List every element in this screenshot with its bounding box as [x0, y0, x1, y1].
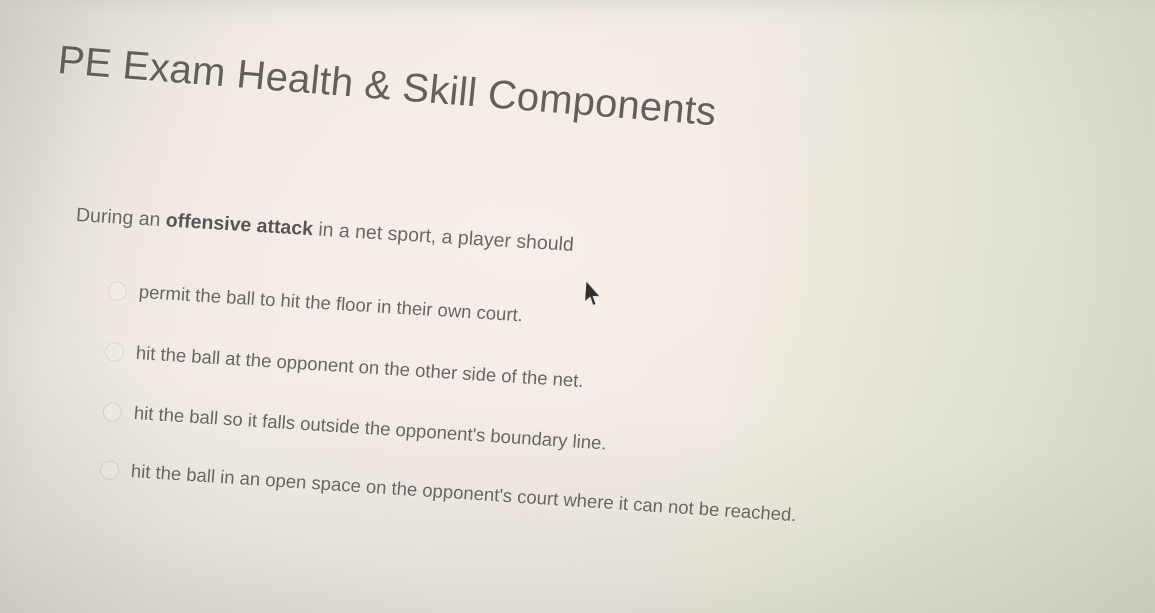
- quiz-screen-photo: PE Exam Health & Skill Components During…: [0, 0, 1155, 613]
- photo-vignette: [0, 0, 1155, 613]
